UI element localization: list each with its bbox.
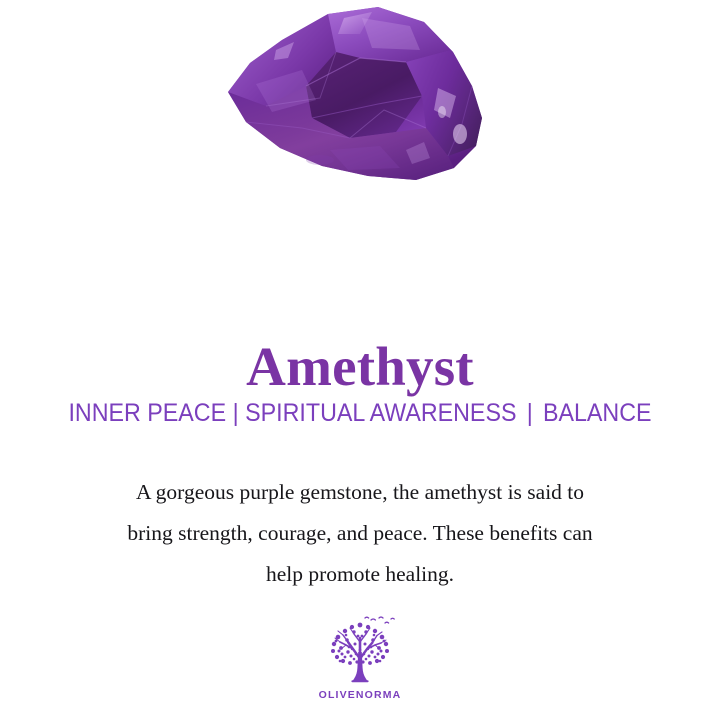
amethyst-stone-image bbox=[0, 0, 720, 285]
description-line-1: A gorgeous purple gemstone, the amethyst… bbox=[40, 472, 680, 513]
keyword-separator-1: | bbox=[226, 398, 245, 428]
keyword-separator-2: | bbox=[516, 398, 543, 428]
brand-wordmark: OLIVENORMA bbox=[319, 689, 402, 701]
keyword-balance: BALANCE bbox=[543, 399, 652, 427]
keyword-inner-peace: INNER PEACE bbox=[68, 399, 226, 427]
tree-of-life-icon bbox=[321, 616, 399, 688]
keyword-spiritual-awareness: SPIRITUAL AWARENESS bbox=[245, 399, 516, 427]
page-title: Amethyst bbox=[0, 336, 720, 398]
description-text: A gorgeous purple gemstone, the amethyst… bbox=[40, 472, 680, 595]
amethyst-info-card: Amethyst INNER PEACE|SPIRITUAL AWARENESS… bbox=[0, 0, 720, 720]
brand-logo: OLIVENORMA bbox=[280, 616, 440, 701]
amethyst-crystal-illustration bbox=[210, 0, 510, 200]
description-line-3: help promote healing. bbox=[40, 554, 680, 595]
description-line-2: bring strength, courage, and peace. Thes… bbox=[40, 513, 680, 554]
keyword-line: INNER PEACE|SPIRITUAL AWARENESS|BALANCE bbox=[25, 398, 695, 428]
